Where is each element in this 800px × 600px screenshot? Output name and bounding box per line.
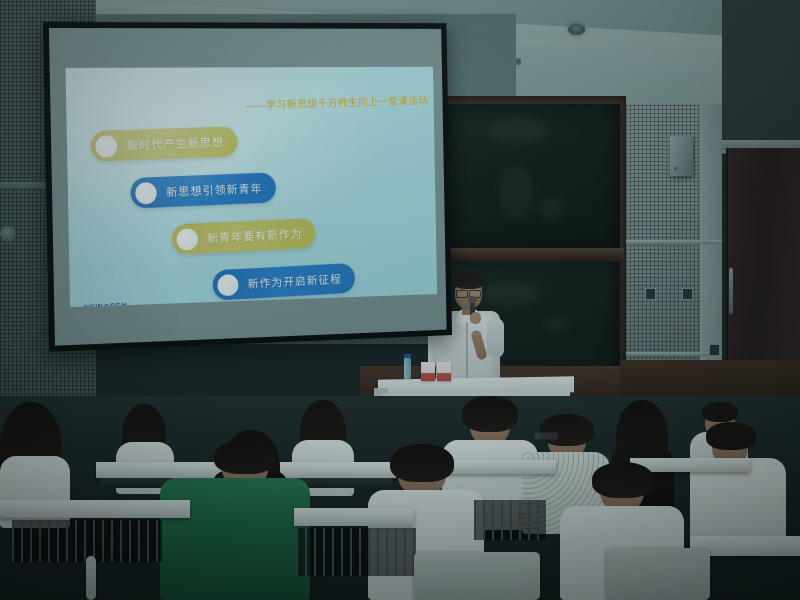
presenter-hair [453,272,484,289]
slide-item-label: 新时代产生新思想 [126,134,224,153]
slide-item-2: 新思想引领新青年 [130,172,276,208]
tissue-box-icon [437,362,451,381]
presentation-slide: ——学习新思想千万师生同上一堂课活动 新时代产生新思想 新思想引领新青年 新青年… [66,67,438,307]
chair-back[interactable] [86,556,96,600]
ceiling-sensor-icon [516,58,521,65]
desk-row-front [294,508,414,526]
tissue-box-icon [421,362,435,381]
wall-outlet-icon [645,288,656,300]
lecture-hall-photo: ——学习新思想千万师生同上一堂课活动 新时代产生新思想 新思想引领新青年 新青年… [0,0,800,600]
slide-item-label: 新作为开启新征程 [247,271,342,292]
wall-speaker-icon [670,136,693,176]
wall-fixture-icon [0,226,16,242]
slide-item-3: 新青年要有新作为 [171,218,315,255]
desk-book-rack [474,500,546,540]
upper-right-wall [722,0,800,150]
desk-row-front [0,500,190,518]
screen-surface: ——学习新思想千万师生同上一堂课活动 新时代产生新思想 新思想引领新青年 新青年… [49,28,447,346]
slide-item-4: 新作为开启新征程 [212,263,355,301]
wall-seam [618,352,722,356]
wall-outlet-icon [682,288,693,300]
bullet-circle-icon [217,273,239,296]
chalkboard-upper-panel [440,104,620,250]
chair-back[interactable] [414,552,540,600]
desk-book-rack [296,528,416,576]
door-handle[interactable] [729,268,733,314]
front-counter [620,360,800,396]
bullet-circle-icon [135,181,157,204]
water-bottle-icon [404,358,411,380]
presenter-sleeve-right [487,318,504,358]
desk-book-rack [12,520,162,562]
slide-logo: NEW⊕PEN 新时代 [84,301,128,307]
presenter-hand [470,312,481,324]
chair-back[interactable] [606,548,710,600]
slide-item-label: 新青年要有新作为 [207,226,303,246]
presenter-shirt-placket [466,322,468,380]
bullet-circle-icon [176,228,198,251]
wall-outlet-icon [709,344,720,356]
glasses-icon [534,432,558,440]
slide-header: ——学习新思想千万师生同上一堂课活动 [245,93,428,113]
ceiling-light-icon [568,24,585,35]
slide-logo-main: NEW⊕PEN [84,301,128,307]
chalk-rail [436,248,624,262]
glasses-icon [456,290,481,296]
projection-screen: ——学习新思想千万师生同上一堂课活动 新时代产生新思想 新思想引领新青年 新青年… [43,22,452,352]
slide-item-1: 新时代产生新思想 [90,126,238,162]
microphone-head-icon [468,296,477,303]
wall-seam [618,240,722,244]
slide-item-label: 新思想引领新青年 [166,180,263,200]
bullet-circle-icon [95,135,117,158]
